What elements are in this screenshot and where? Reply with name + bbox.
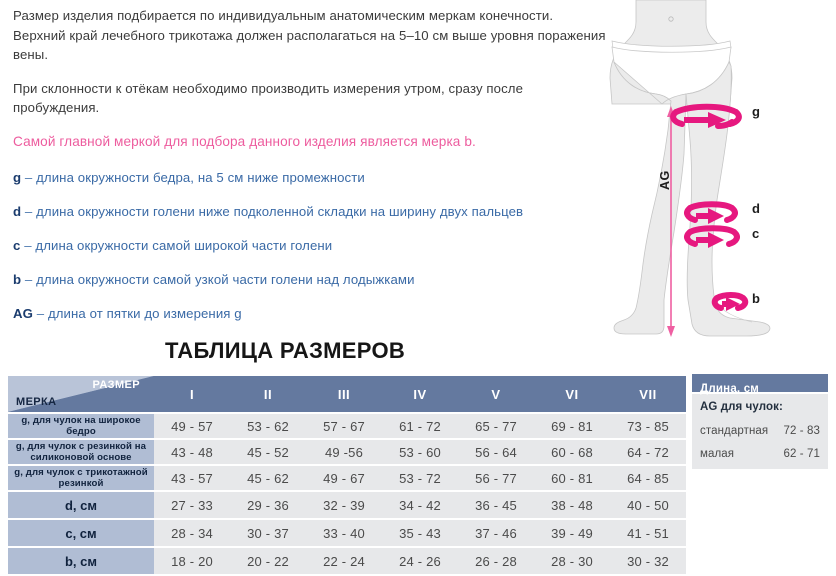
measurement-definition-c: c – длина окружности самой широкой части… bbox=[13, 237, 609, 254]
measurement-dash-b: – bbox=[25, 272, 32, 287]
cell-r1-c4: 56 - 64 bbox=[458, 440, 534, 464]
row-label-c: c, см bbox=[8, 520, 154, 546]
size-table-body: g, для чулок на широкое бедро 49 - 57 53… bbox=[8, 414, 686, 574]
table-row: g, для чулок на широкое бедро 49 - 57 53… bbox=[8, 414, 686, 438]
cell-r4-c1: 30 - 37 bbox=[230, 520, 306, 546]
cell-r5-c3: 24 - 26 bbox=[382, 548, 458, 574]
row-label-d: d, см bbox=[8, 492, 154, 518]
cell-r5-c2: 22 - 24 bbox=[306, 548, 382, 574]
size-table: МЕРКА РАЗМЕР I II III IV V VI VII g, для… bbox=[8, 374, 686, 576]
instruction-text-column: Размер изделия подбирается по индивидуал… bbox=[13, 6, 609, 339]
row-label-g-silicone-band: g, для чулок с резинкой на силиконовой о… bbox=[8, 440, 154, 464]
highlight-note: Самой главной меркой для подбора данного… bbox=[13, 132, 609, 151]
column-header-5: V bbox=[458, 376, 534, 412]
cell-r1-c2: 49 -56 bbox=[306, 440, 382, 464]
measure-loop-b bbox=[715, 295, 746, 311]
cell-r1-c5: 60 - 68 bbox=[534, 440, 610, 464]
cell-r2-c2: 49 - 67 bbox=[306, 466, 382, 490]
measurement-dash-d: – bbox=[25, 204, 32, 219]
row-label-g-knit-band: g, для чулок с трикотажной резинкой bbox=[8, 466, 154, 490]
cell-r1-c3: 53 - 60 bbox=[382, 440, 458, 464]
cell-r0-c3: 61 - 72 bbox=[382, 414, 458, 438]
measurement-key-b: b bbox=[13, 272, 21, 287]
cell-r0-c4: 65 - 77 bbox=[458, 414, 534, 438]
length-row-standard: стандартная 72 - 83 bbox=[700, 425, 820, 437]
measurement-key-d: d bbox=[13, 204, 21, 219]
figure-label-d: d bbox=[752, 201, 760, 216]
table-row: b, см 18 - 20 20 - 22 22 - 24 24 - 26 26… bbox=[8, 548, 686, 574]
figure-label-c: c bbox=[752, 226, 759, 241]
length-name-small: малая bbox=[700, 448, 734, 460]
table-corner-cell: МЕРКА РАЗМЕР bbox=[8, 376, 154, 412]
cell-r3-c3: 34 - 42 bbox=[382, 492, 458, 518]
table-row: g, для чулок с трикотажной резинкой 43 -… bbox=[8, 466, 686, 490]
length-panel: Длина, см AG для чулок: стандартная 72 -… bbox=[692, 374, 828, 469]
table-row: d, см 27 - 33 29 - 36 32 - 39 34 - 42 36… bbox=[8, 492, 686, 518]
leg-measurement-diagram: g d c b AG bbox=[600, 0, 836, 340]
cell-r2-c1: 45 - 62 bbox=[230, 466, 306, 490]
cell-r3-c6: 40 - 50 bbox=[610, 492, 686, 518]
length-row-small: малая 62 - 71 bbox=[700, 448, 820, 460]
size-table-title: ТАБЛИЦА РАЗМЕРОВ bbox=[0, 338, 570, 364]
figure-label-b: b bbox=[752, 291, 760, 306]
info-section: Размер изделия подбирается по индивидуал… bbox=[0, 0, 836, 332]
measurement-definition-b: b – длина окружности самой узкой части г… bbox=[13, 271, 609, 288]
column-header-6: VI bbox=[534, 376, 610, 412]
length-panel-title: AG для чулок: bbox=[700, 401, 820, 413]
cell-r3-c0: 27 - 33 bbox=[154, 492, 230, 518]
measurement-key-c: c bbox=[13, 238, 20, 253]
cell-r0-c0: 49 - 57 bbox=[154, 414, 230, 438]
cell-r4-c6: 41 - 51 bbox=[610, 520, 686, 546]
cell-r0-c5: 69 - 81 bbox=[534, 414, 610, 438]
length-name-standard: стандартная bbox=[700, 425, 768, 437]
measurement-key-g: g bbox=[13, 170, 21, 185]
cell-r5-c6: 30 - 32 bbox=[610, 548, 686, 574]
cell-r0-c2: 57 - 67 bbox=[306, 414, 382, 438]
measurement-text-c: длина окружности самой широкой части гол… bbox=[35, 238, 332, 253]
column-header-4: IV bbox=[382, 376, 458, 412]
cell-r5-c4: 26 - 28 bbox=[458, 548, 534, 574]
length-value-standard: 72 - 83 bbox=[783, 425, 820, 437]
measurement-dash-ag: – bbox=[37, 306, 44, 321]
measurement-definitions-list: g – длина окружности бедра, на 5 см ниже… bbox=[13, 169, 609, 322]
measurement-definition-ag: AG – длина от пятки до измерения g bbox=[13, 305, 609, 322]
column-header-3: III bbox=[306, 376, 382, 412]
measurement-definition-g: g – длина окружности бедра, на 5 см ниже… bbox=[13, 169, 609, 186]
cell-r5-c0: 18 - 20 bbox=[154, 548, 230, 574]
column-header-7: VII bbox=[610, 376, 686, 412]
figure-label-ag: AG bbox=[658, 170, 672, 190]
cell-r5-c1: 20 - 22 bbox=[230, 548, 306, 574]
corner-label-razmer: РАЗМЕР bbox=[93, 379, 140, 391]
column-header-2: II bbox=[230, 376, 306, 412]
measurement-text-ag: длина от пятки до измерения g bbox=[48, 306, 242, 321]
measurement-dash-g: – bbox=[25, 170, 32, 185]
cell-r3-c5: 38 - 48 bbox=[534, 492, 610, 518]
cell-r1-c0: 43 - 48 bbox=[154, 440, 230, 464]
table-row: g, для чулок с резинкой на силиконовой о… bbox=[8, 440, 686, 464]
table-row: c, см 28 - 34 30 - 37 33 - 40 35 - 43 37… bbox=[8, 520, 686, 546]
cell-r4-c5: 39 - 49 bbox=[534, 520, 610, 546]
column-header-1: I bbox=[154, 376, 230, 412]
size-table-head: МЕРКА РАЗМЕР I II III IV V VI VII bbox=[8, 376, 686, 412]
measurement-definition-d: d – длина окружности голени ниже подколе… bbox=[13, 203, 609, 220]
female-legs-illustration bbox=[600, 0, 836, 340]
cell-r0-c1: 53 - 62 bbox=[230, 414, 306, 438]
measurement-text-g: длина окружности бедра, на 5 см ниже про… bbox=[36, 170, 365, 185]
cell-r3-c4: 36 - 45 bbox=[458, 492, 534, 518]
corner-label-merka: МЕРКА bbox=[16, 396, 57, 408]
length-panel-header: Длина, см bbox=[692, 374, 828, 392]
intro-paragraph-1: Размер изделия подбирается по индивидуал… bbox=[13, 6, 609, 65]
cell-r2-c4: 56 - 77 bbox=[458, 466, 534, 490]
cell-r4-c2: 33 - 40 bbox=[306, 520, 382, 546]
length-panel-body: AG для чулок: стандартная 72 - 83 малая … bbox=[692, 394, 828, 469]
cell-r3-c1: 29 - 36 bbox=[230, 492, 306, 518]
cell-r2-c6: 64 - 85 bbox=[610, 466, 686, 490]
cell-r1-c1: 45 - 52 bbox=[230, 440, 306, 464]
row-label-g-wide-thigh: g, для чулок на широкое бедро bbox=[8, 414, 154, 438]
measurement-text-d: длина окружности голени ниже подколенной… bbox=[36, 204, 523, 219]
cell-r3-c2: 32 - 39 bbox=[306, 492, 382, 518]
length-value-small: 62 - 71 bbox=[783, 448, 820, 460]
cell-r2-c0: 43 - 57 bbox=[154, 466, 230, 490]
cell-r4-c4: 37 - 46 bbox=[458, 520, 534, 546]
cell-r1-c6: 64 - 72 bbox=[610, 440, 686, 464]
cell-r4-c0: 28 - 34 bbox=[154, 520, 230, 546]
measurement-key-ag: AG bbox=[13, 306, 33, 321]
figure-label-g: g bbox=[752, 104, 760, 119]
cell-r0-c6: 73 - 85 bbox=[610, 414, 686, 438]
table-header-row: МЕРКА РАЗМЕР I II III IV V VI VII bbox=[8, 376, 686, 412]
cell-r5-c5: 28 - 30 bbox=[534, 548, 610, 574]
cell-r2-c3: 53 - 72 bbox=[382, 466, 458, 490]
intro-paragraph-2: При склонности к отёкам необходимо произ… bbox=[13, 79, 609, 118]
measurement-text-b: длина окружности самой узкой части голен… bbox=[36, 272, 414, 287]
row-label-b: b, см bbox=[8, 548, 154, 574]
cell-r2-c5: 60 - 81 bbox=[534, 466, 610, 490]
measurement-dash-c: – bbox=[24, 238, 31, 253]
cell-r4-c3: 35 - 43 bbox=[382, 520, 458, 546]
